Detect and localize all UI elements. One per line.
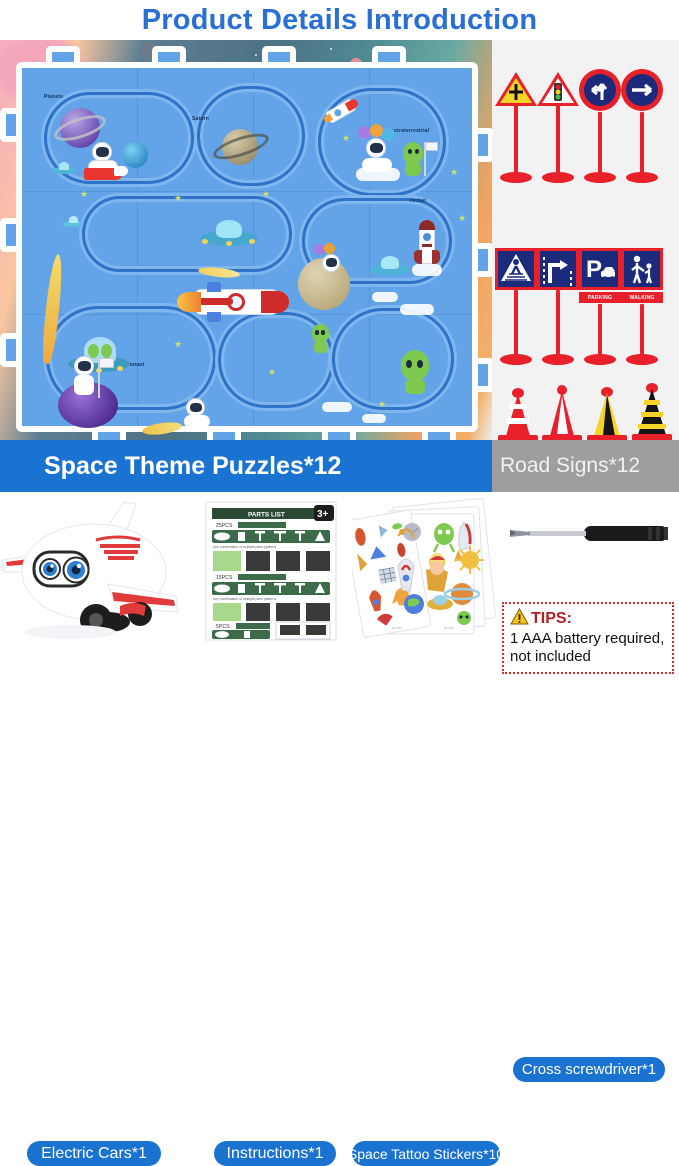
page-title: Product Details Introduction xyxy=(0,0,679,40)
sign-pole xyxy=(556,102,560,180)
astronaut-on-moon xyxy=(310,244,354,284)
star-decoration: ★ xyxy=(174,194,182,203)
star-decoration: ★ xyxy=(174,340,182,349)
puzzle-tab xyxy=(0,218,16,252)
sign-base xyxy=(584,354,616,365)
space-tattoo-stickers-label: Space Tattoo Stickers*10 xyxy=(352,1141,500,1166)
walking-sign-label: WALKING xyxy=(621,292,663,303)
straight-or-left-arrow-sign xyxy=(578,68,622,117)
svg-text:P: P xyxy=(586,256,602,283)
instructions-label: Instructions*1 xyxy=(214,1141,336,1166)
top-section: Planets Saturn extraterrestrial rocket A… xyxy=(0,40,679,495)
svg-text:Any combination of multiple pa: Any combination of multiple parts patter… xyxy=(213,545,276,549)
rocket-large xyxy=(177,280,295,326)
parking-sign: P xyxy=(579,248,621,290)
svg-text:15PCS: 15PCS xyxy=(216,575,233,581)
right-arrow-sign xyxy=(620,68,664,117)
sign-base xyxy=(500,354,532,365)
tips-line-2: not included xyxy=(510,649,666,666)
comet-yellow xyxy=(42,254,66,364)
star-decoration: ★ xyxy=(268,368,276,377)
instructions-image: PARTS LIST 3+ 25PCS Any combination of m… xyxy=(204,500,340,642)
puzzle-tab xyxy=(262,46,296,62)
star-decoration: ★ xyxy=(342,134,350,143)
svg-text:No.001: No.001 xyxy=(392,626,402,630)
puzzle-board[interactable]: Planets Saturn extraterrestrial rocket A… xyxy=(16,62,478,432)
parking-sign-label: PARKING xyxy=(579,292,621,303)
warning-triangle-icon xyxy=(510,608,529,630)
puzzle-label-planets: Planets xyxy=(44,94,63,100)
planet-blue xyxy=(122,142,148,168)
puzzle-panel: Planets Saturn extraterrestrial rocket A… xyxy=(0,40,492,495)
tips-callout: TIPS: 1 AAA battery required, not includ… xyxy=(502,602,674,674)
tips-heading: TIPS: xyxy=(531,610,572,628)
cross-screwdriver-label: Cross screwdriver*1 xyxy=(513,1057,665,1082)
svg-text:Any combination of multiple pa: Any combination of multiple parts patter… xyxy=(213,597,276,601)
puzzle-label-rocket: rocket xyxy=(410,198,426,204)
ufo-tiny xyxy=(62,216,84,228)
road-signs-banner-label: Road Signs*12 xyxy=(500,454,640,478)
sign-pole xyxy=(514,290,518,362)
pedestrian-crossing-sign xyxy=(495,248,537,290)
cloud-decoration xyxy=(362,414,386,423)
road-signs-panel: P PARKING WALKING xyxy=(492,40,679,495)
sign-pole xyxy=(556,290,560,362)
sign-pole xyxy=(640,112,644,180)
svg-text:3+: 3+ xyxy=(317,509,329,520)
ufo-right xyxy=(370,256,410,276)
star-decoration: ★ xyxy=(450,168,458,177)
traffic-light-sign xyxy=(536,70,580,113)
cloud-decoration xyxy=(322,402,352,412)
turn-right-lane-sign xyxy=(537,248,579,290)
svg-text:PARTS LIST: PARTS LIST xyxy=(248,512,285,519)
svg-text:25PCS: 25PCS xyxy=(216,523,233,529)
sign-base xyxy=(542,172,574,183)
puzzle-label-saturn: Saturn xyxy=(192,116,209,122)
sign-pole xyxy=(514,102,518,180)
electric-car-label: Electric Cars*1 xyxy=(27,1141,161,1166)
cross-screwdriver-image xyxy=(498,514,676,560)
puzzle-tab xyxy=(0,108,16,142)
crossroad-warning-sign xyxy=(494,70,538,108)
sign-pole xyxy=(598,112,602,180)
star-decoration: ★ xyxy=(80,190,88,199)
rocket-white xyxy=(412,220,442,280)
sign-base xyxy=(500,172,532,183)
ufo-large xyxy=(200,220,258,246)
planet-saturn xyxy=(212,124,270,170)
puzzle-tab xyxy=(478,358,492,392)
alien-standing xyxy=(308,322,334,356)
cloud-decoration xyxy=(372,292,398,302)
puzzle-tab xyxy=(152,46,186,62)
cloud-decoration xyxy=(400,304,434,315)
sign-base xyxy=(626,354,658,365)
puzzle-banner: Space Theme Puzzles*12 xyxy=(0,440,492,492)
star-decoration: ★ xyxy=(458,214,466,223)
sign-base xyxy=(584,172,616,183)
track-loop xyxy=(82,196,292,272)
puzzle-tab xyxy=(478,243,492,277)
star-decoration: ★ xyxy=(262,190,270,199)
svg-text:No.002: No.002 xyxy=(444,626,454,630)
comet-small xyxy=(142,423,182,437)
svg-text:5PCS: 5PCS xyxy=(216,624,230,630)
alien-large xyxy=(396,348,436,396)
alien-with-flag xyxy=(400,138,434,180)
electric-car-image xyxy=(0,496,186,642)
puzzle-tab xyxy=(46,46,80,62)
star-decoration: ★ xyxy=(378,400,386,409)
road-signs-banner: Road Signs*12 xyxy=(492,440,679,492)
puzzle-tab xyxy=(0,333,16,367)
tips-line-1: 1 AAA battery required, xyxy=(510,631,666,648)
sign-base xyxy=(542,354,574,365)
astronaut-floating xyxy=(182,398,218,430)
puzzle-tab xyxy=(478,128,492,162)
puzzle-banner-label: Space Theme Puzzles*12 xyxy=(44,452,341,481)
ufo-small xyxy=(52,162,76,174)
space-tattoo-stickers-image: No.001 No.002 xyxy=(352,498,498,644)
sign-base xyxy=(626,172,658,183)
banner-row: Space Theme Puzzles*12 Road Signs*12 xyxy=(0,440,679,492)
walking-sign xyxy=(621,248,663,290)
puzzle-tab xyxy=(372,46,406,62)
comet-mid xyxy=(198,268,240,280)
